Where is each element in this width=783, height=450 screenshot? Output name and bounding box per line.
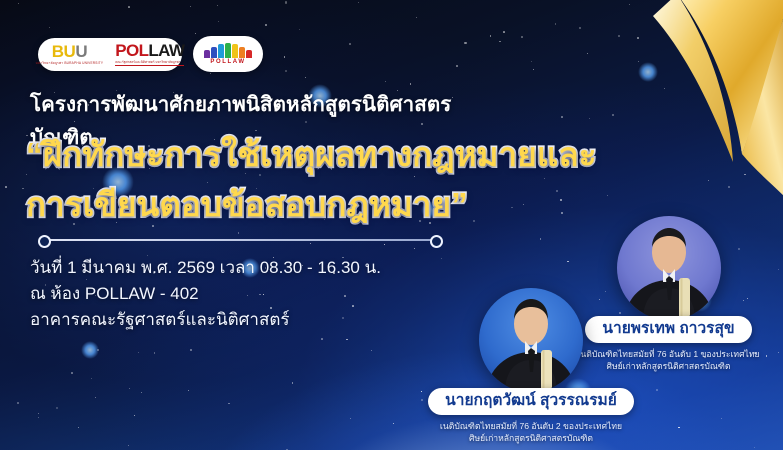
star: [664, 88, 665, 89]
star: [456, 65, 458, 67]
star: [49, 27, 50, 28]
star: [71, 372, 73, 374]
star: [523, 204, 524, 205]
buu-letter-u1: U: [64, 42, 76, 61]
star: [499, 41, 500, 42]
star: [22, 188, 23, 189]
star: [754, 447, 755, 448]
star: [299, 29, 300, 30]
logo-row: BUU มหาวิทยาลัยบูรพา BURAPHA UNIVERSITY …: [38, 36, 263, 72]
star: [285, 70, 287, 72]
star: [217, 5, 218, 6]
star: [95, 397, 96, 398]
star: [128, 6, 130, 8]
divider-dot-left: [38, 235, 51, 248]
quote-close: ”: [451, 186, 468, 223]
star: [349, 43, 351, 45]
speaker-2-name-badge: นายกฤตวัฒน์ สุวรรณรมย์: [428, 388, 634, 415]
star: [358, 2, 359, 3]
star: [238, 232, 239, 233]
rainbow-arc-icon: [204, 43, 252, 58]
event-details: วันที่ 1 มีนาคม พ.ศ. 2569 เวลา 08.30 - 1…: [30, 255, 381, 332]
pollaw-pol: POL: [115, 41, 148, 60]
pollaw-subtitle: คณะรัฐศาสตร์และนิติศาสตร์ มหาวิทยาลัยบูร…: [115, 61, 184, 64]
speaker-2-portrait: [479, 288, 583, 392]
emblem-segment: [204, 50, 210, 58]
star: [778, 145, 780, 147]
star: [38, 417, 39, 418]
buu-logo: BUU มหาวิทยาลัยบูรพา BURAPHA UNIVERSITY: [36, 43, 104, 65]
star: [416, 17, 417, 18]
star: [350, 418, 351, 419]
star: [555, 23, 556, 24]
star: [473, 220, 475, 222]
star: [190, 349, 192, 351]
pollaw-emblem-label: POLLAW: [210, 59, 245, 65]
star: [285, 1, 287, 3]
event-room: ณ ห้อง POLLAW - 402: [30, 281, 381, 307]
star: [265, 24, 267, 26]
speaker-card-2: นายกฤตวัฒน์ สุวรรณรมย์ เนติบัณฑิตไทยสมัย…: [396, 288, 666, 444]
star: [78, 427, 79, 428]
star: [5, 186, 7, 188]
star: [97, 349, 99, 351]
star: [533, 69, 534, 70]
star: [618, 35, 620, 37]
speaker-2-name: นายกฤตวัฒน์ สุวรรณรมย์: [445, 392, 617, 409]
star: [540, 238, 541, 239]
star: [284, 56, 285, 57]
star: [589, 118, 590, 119]
event-title-line-1: “ฝึกทักษะการใช้เหตุผลทางกฎหมายและ: [26, 128, 597, 181]
star-glow: [638, 62, 658, 82]
emblem-segment: [218, 44, 224, 58]
star: [17, 402, 19, 404]
speaker-2-caption-line-1: เนติบัณฑิตไทยสมัยที่ 76 อันดับ 2 ของประเ…: [396, 420, 666, 432]
star: [292, 382, 293, 383]
event-building: อาคารคณะรัฐศาสตร์และนิติศาสตร์: [30, 307, 381, 333]
buu-letter-b: B: [52, 42, 64, 61]
star-glow: [81, 341, 99, 359]
star: [321, 338, 323, 340]
buu-letter-u2: U: [75, 42, 87, 61]
star: [561, 212, 563, 214]
event-title-line-1-text: ฝึกทักษะการใช้เหตุผลทางกฎหมายและ: [43, 136, 597, 173]
emblem-segment: [246, 50, 252, 58]
star: [531, 61, 532, 62]
star: [310, 243, 311, 244]
emblem-segment: [239, 47, 245, 58]
star: [561, 116, 563, 118]
star: [134, 415, 135, 416]
star: [521, 36, 523, 38]
event-title-line-2-text: การเขียนตอบข้อสอบกฎหมาย: [26, 186, 451, 223]
emblem-segment: [232, 44, 238, 58]
buu-pollaw-logo-pill: BUU มหาวิทยาลัยบูรพา BURAPHA UNIVERSITY …: [38, 38, 182, 71]
star: [346, 339, 347, 340]
star: [218, 21, 219, 22]
pollaw-emblem-pill: POLLAW: [193, 36, 263, 72]
star: [503, 31, 505, 33]
section-divider: [42, 239, 434, 241]
star: [723, 74, 725, 76]
star: [741, 149, 742, 150]
star: [210, 73, 211, 74]
star: [708, 180, 709, 181]
star: [556, 190, 558, 192]
pollaw-wordmark-text: POLLAW: [115, 42, 184, 59]
speaker-2-caption: เนติบัณฑิตไทยสมัยที่ 76 อันดับ 2 ของประเ…: [396, 420, 666, 444]
star: [721, 418, 722, 419]
star: [678, 427, 679, 428]
buu-logo-wordmark: BUU: [52, 43, 87, 60]
star: [190, 6, 191, 7]
buu-logo-subtitle: มหาวิทยาลัยบูรพา BURAPHA UNIVERSITY: [36, 62, 104, 65]
star: [385, 81, 386, 82]
star: [371, 350, 372, 351]
speaker-2-caption-line-2: ศิษย์เก่าหลักสูตรนิติศาสตรบัณฑิต: [396, 432, 666, 444]
star: [612, 114, 614, 116]
star: [38, 413, 39, 414]
pollaw-underline: [115, 65, 184, 67]
star: [728, 186, 730, 188]
star: [410, 83, 411, 84]
star: [511, 207, 513, 209]
star: [138, 352, 139, 353]
star: [744, 174, 746, 176]
star: [228, 403, 230, 405]
star: [579, 27, 581, 29]
star: [607, 195, 608, 196]
event-title-line-2: การเขียนตอบข้อสอบกฎหมาย”: [26, 178, 468, 231]
star: [393, 423, 394, 424]
star: [305, 77, 306, 78]
star: [128, 445, 129, 446]
star: [560, 199, 562, 201]
event-poster: BUU มหาวิทยาลัยบูรพา BURAPHA UNIVERSITY …: [0, 0, 783, 450]
star: [18, 3, 19, 4]
star: [638, 61, 639, 62]
pollaw-law: LAW: [148, 41, 184, 60]
pollaw-emblem: POLLAW: [204, 43, 252, 66]
emblem-segment: [225, 43, 231, 58]
star: [441, 258, 442, 259]
star: [587, 53, 588, 54]
star: [154, 352, 156, 354]
pollaw-wordmark: POLLAW คณะรัฐศาสตร์และนิติศาสตร์ มหาวิทย…: [115, 42, 184, 67]
emblem-segment: [211, 47, 217, 58]
star: [129, 388, 130, 389]
star: [490, 35, 491, 36]
divider-dot-right: [430, 235, 443, 248]
quote-open: “: [26, 136, 43, 173]
event-date-time: วันที่ 1 มีนาคม พ.ศ. 2569 เวลา 08.30 - 1…: [30, 255, 381, 281]
star: [414, 248, 415, 249]
star: [464, 42, 466, 44]
star: [56, 407, 58, 409]
star: [141, 392, 142, 393]
star: [188, 390, 189, 391]
star: [637, 37, 639, 39]
